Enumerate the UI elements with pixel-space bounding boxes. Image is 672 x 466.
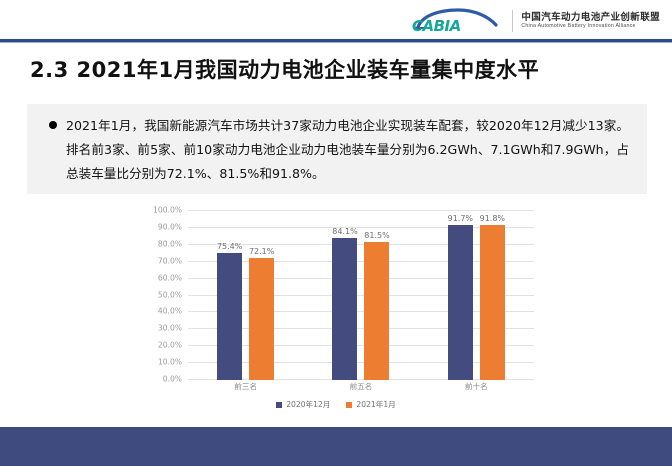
- bar[interactable]: 91.8%: [480, 225, 505, 380]
- bar-group: 75.4%72.1%: [188, 211, 303, 380]
- cabia-logo: CABIA 中国汽车动力电池产业创新联盟 China Automotive Ba…: [408, 7, 660, 35]
- chart-bar-groups: 75.4%72.1%84.1%81.5%91.7%91.8%: [188, 211, 534, 380]
- page-title: 2.3 2021年1月我国动力电池企业装车量集中度水平: [30, 54, 539, 84]
- y-axis-tick-label: 90.0%: [158, 222, 182, 231]
- concentration-bar-chart: 0.0%10.0%20.0%30.0%40.0%50.0%60.0%70.0%8…: [134, 201, 538, 423]
- y-axis-tick-label: 30.0%: [158, 324, 182, 333]
- chart-plot-area: 0.0%10.0%20.0%30.0%40.0%50.0%60.0%70.0%8…: [188, 211, 534, 380]
- bullet-dot-icon: [49, 121, 57, 129]
- chart-legend: 2020年12月2021年1月: [134, 399, 538, 410]
- bar-value-label: 84.1%: [332, 227, 357, 236]
- bar-group: 91.7%91.8%: [419, 211, 534, 380]
- bar-value-label: 91.7%: [448, 214, 473, 223]
- bar-column[interactable]: 91.8%: [480, 211, 505, 380]
- bar[interactable]: 75.4%: [217, 253, 242, 380]
- bar-value-label: 72.1%: [249, 247, 274, 256]
- y-axis-tick-label: 10.0%: [158, 358, 182, 367]
- org-name-en: China Automotive Battery Innovation Alli…: [521, 24, 660, 29]
- bar[interactable]: 81.5%: [364, 242, 389, 380]
- legend-label: 2020年12月: [286, 399, 330, 410]
- chart-x-axis: 前三名前五名前十名: [188, 381, 534, 392]
- bar-column[interactable]: 84.1%: [332, 211, 357, 380]
- bar-column[interactable]: 81.5%: [364, 211, 389, 380]
- bar-group: 84.1%81.5%: [303, 211, 418, 380]
- bar-value-label: 75.4%: [217, 242, 242, 251]
- slide-header: CABIA 中国汽车动力电池产业创新联盟 China Automotive Ba…: [0, 0, 672, 40]
- y-axis-tick-label: 100.0%: [153, 206, 182, 215]
- bar-column[interactable]: 91.7%: [448, 211, 473, 380]
- y-axis-tick-label: 40.0%: [158, 307, 182, 316]
- y-axis-tick-label: 70.0%: [158, 256, 182, 265]
- footer-bar: [0, 427, 672, 466]
- bar-column[interactable]: 72.1%: [249, 211, 274, 380]
- x-axis-tick-label: 前五名: [303, 381, 418, 392]
- legend-item[interactable]: 2020年12月: [276, 399, 330, 410]
- logo-divider: [512, 10, 513, 32]
- x-axis-tick-label: 前三名: [188, 381, 303, 392]
- legend-item[interactable]: 2021年1月: [346, 399, 395, 410]
- svg-text:CABIA: CABIA: [412, 17, 461, 35]
- y-axis-tick-label: 60.0%: [158, 273, 182, 282]
- summary-text: 2021年1月，我国新能源汽车市场共计37家动力电池企业实现装车配套，较2020…: [66, 114, 629, 186]
- summary-callout: 2021年1月，我国新能源汽车市场共计37家动力电池企业实现装车配套，较2020…: [27, 104, 647, 194]
- x-axis-tick-label: 前十名: [419, 381, 534, 392]
- y-axis-tick-label: 20.0%: [158, 341, 182, 350]
- bar-value-label: 81.5%: [364, 231, 389, 240]
- legend-swatch: [276, 402, 282, 408]
- y-axis-tick-label: 50.0%: [158, 290, 182, 299]
- bar-value-label: 91.8%: [480, 214, 505, 223]
- bar[interactable]: 72.1%: [249, 258, 274, 380]
- bar[interactable]: 91.7%: [448, 225, 473, 380]
- logo-wordmark: 中国汽车动力电池产业创新联盟 China Automotive Battery …: [521, 13, 660, 30]
- legend-label: 2021年1月: [356, 399, 395, 410]
- y-axis-tick-label: 0.0%: [163, 375, 182, 384]
- legend-swatch: [346, 402, 352, 408]
- bar[interactable]: 84.1%: [332, 238, 357, 380]
- org-name-cn: 中国汽车动力电池产业创新联盟: [521, 13, 660, 23]
- header-rule-secondary: [0, 42, 672, 43]
- bar-column[interactable]: 75.4%: [217, 211, 242, 380]
- cabia-logo-mark-icon: CABIA: [408, 7, 504, 35]
- y-axis-tick-label: 80.0%: [158, 239, 182, 248]
